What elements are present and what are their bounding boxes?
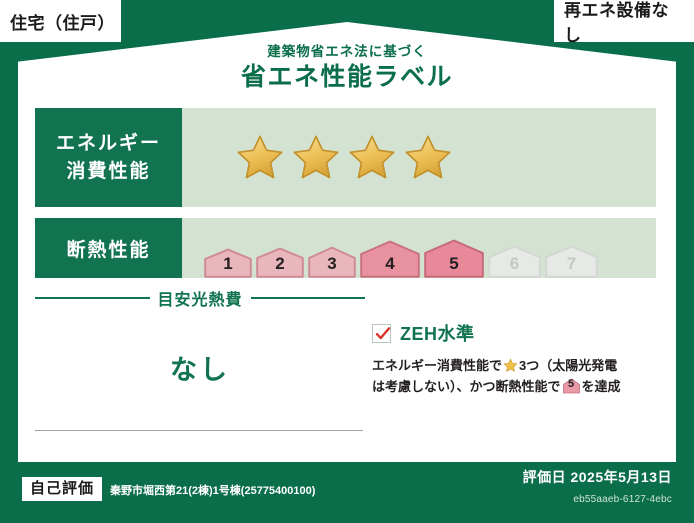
zeh-desc-part2: 3つ（太陽光発電 — [519, 358, 617, 373]
utility-cost-title: 目安光熱費 — [158, 286, 243, 310]
star-icon — [346, 133, 398, 183]
insulation-grade-scale: 1234567 — [182, 218, 598, 278]
zeh-title: ZEH水準 — [400, 320, 475, 346]
insulation-grade-value: 4 — [360, 254, 420, 274]
self-evaluation-badge: 自己評価 — [22, 477, 102, 502]
energy-label-root: 住宅（住戸） 再エネ設備なし 建築物省エネ法に基づく 省エネ性能ラベル エネルギ… — [0, 0, 694, 523]
building-name-text: 秦野市堀西第21(2棟)1号棟(25775400100) — [110, 482, 315, 498]
insulation-label-text: 断熱性能 — [66, 235, 150, 262]
insulation-grade-7: 7 — [545, 245, 598, 278]
insulation-grade-5: 5 — [424, 239, 484, 278]
insulation-grade-value: 2 — [256, 254, 304, 274]
insulation-grade-value: 7 — [545, 254, 598, 274]
zeh-desc-part1: エネルギー消費性能で — [372, 358, 502, 373]
zeh-checkbox[interactable] — [372, 324, 391, 343]
check-icon — [375, 326, 391, 342]
grade-icon-inline: 5 — [563, 378, 580, 394]
star-icon — [234, 133, 286, 183]
energy-performance-value — [182, 108, 656, 207]
evaluation-date: 評価日 2025年5月13日 — [523, 467, 672, 487]
renewable-equipment-tag: 再エネ設備なし — [554, 0, 694, 42]
insulation-grade-value: 3 — [308, 254, 356, 274]
energy-label-line1: エネルギー — [56, 130, 161, 158]
insulation-grade-3: 3 — [308, 246, 356, 278]
star-icon — [402, 133, 454, 183]
zeh-block: ZEH水準 エネルギー消費性能で3つ（太陽光発電 は考慮しない）、かつ断熱性能で… — [372, 320, 660, 397]
heading-rule-right — [251, 297, 366, 299]
insulation-grade-value: 5 — [424, 254, 484, 274]
insulation-performance-value: 1234567 — [182, 218, 656, 278]
evaluation-id: eb55aaeb-6127-4ebc — [573, 494, 672, 505]
energy-performance-label: エネルギー 消費性能 — [35, 108, 182, 207]
utility-cost-value: なし — [35, 348, 365, 387]
insulation-grade-2: 2 — [256, 247, 304, 278]
utility-cost-bottom-rule — [35, 430, 363, 431]
insulation-grade-4: 4 — [360, 240, 420, 278]
energy-label-line2: 消費性能 — [66, 158, 150, 186]
energy-performance-row: エネルギー 消費性能 — [35, 108, 656, 207]
star-icon — [290, 133, 342, 183]
insulation-performance-label: 断熱性能 — [35, 218, 182, 278]
insulation-grade-value: 1 — [204, 254, 252, 274]
utility-cost-heading: 目安光熱費 — [35, 286, 365, 310]
zeh-heading: ZEH水準 — [372, 320, 660, 346]
insulation-grade-value: 6 — [488, 254, 541, 274]
star-rating — [182, 133, 454, 183]
utility-cost-block: 目安光熱費 なし — [35, 286, 365, 387]
grade-icon-value: 5 — [563, 376, 580, 394]
building-type-tag: 住宅（住戸） — [0, 0, 121, 42]
zeh-description: エネルギー消費性能で3つ（太陽光発電 は考慮しない）、かつ断熱性能で5を達成 — [372, 355, 660, 397]
heading-rule-left — [35, 297, 150, 299]
insulation-performance-row: 断熱性能 1234567 — [35, 218, 656, 278]
insulation-grade-6: 6 — [488, 245, 541, 278]
insulation-grade-1: 1 — [204, 248, 252, 278]
zeh-desc-part3: は考慮しない）、かつ断熱性能で — [372, 379, 561, 394]
star-icon-inline — [503, 358, 518, 373]
zeh-desc-part4: を達成 — [582, 379, 621, 394]
